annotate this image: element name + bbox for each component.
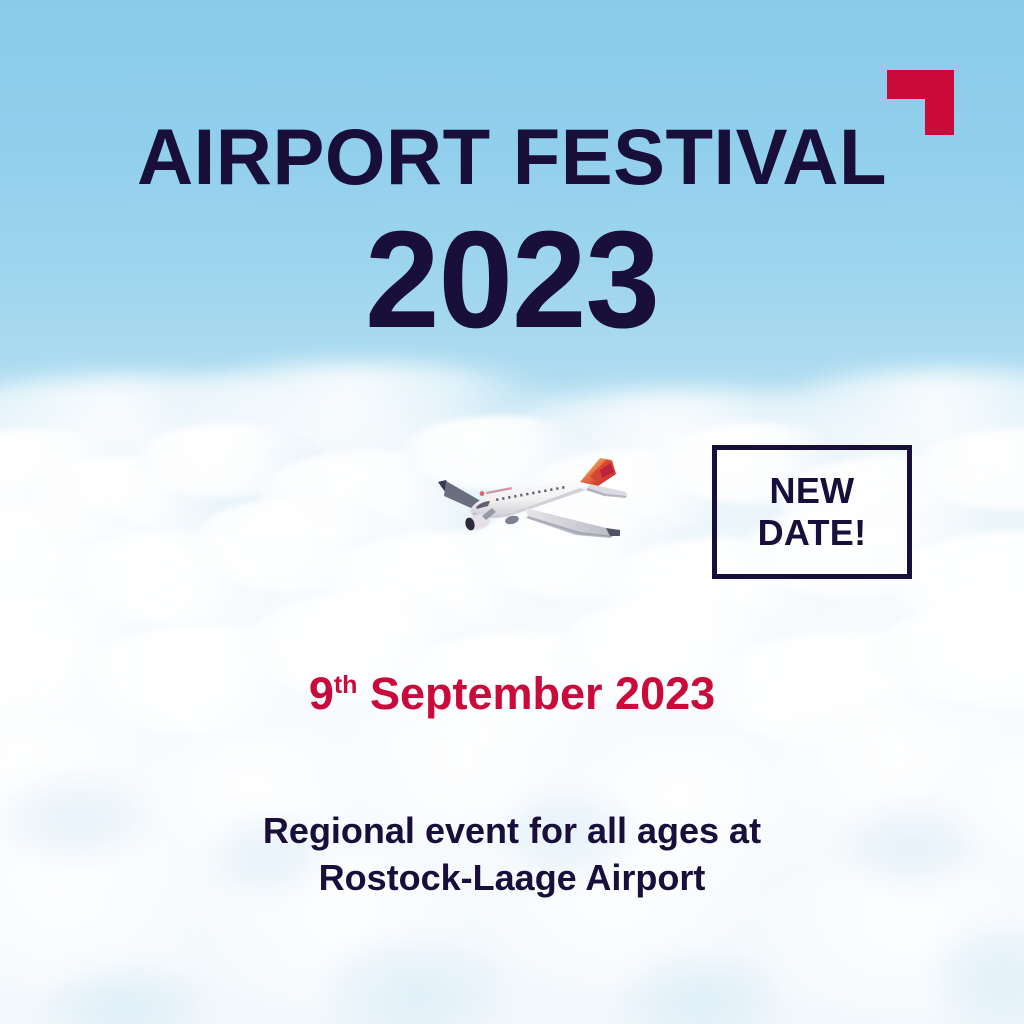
event-date-rest: September 2023 bbox=[357, 668, 715, 719]
new-date-line-1: NEW bbox=[770, 470, 855, 512]
new-date-badge: NEW DATE! bbox=[712, 445, 912, 579]
event-date-ordinal: th bbox=[334, 671, 358, 699]
subtitle-line-1: Regional event for all ages at bbox=[0, 808, 1024, 855]
event-date-day: 9 bbox=[309, 668, 334, 719]
subtitle-line-2: Rostock-Laage Airport bbox=[0, 855, 1024, 902]
flag-vertical-bar bbox=[925, 70, 954, 135]
red-corner-flag-icon bbox=[887, 70, 954, 135]
new-date-line-2: DATE! bbox=[758, 512, 867, 554]
airplane-graphic bbox=[430, 452, 630, 548]
event-subtitle: Regional event for all ages at Rostock-L… bbox=[0, 808, 1024, 902]
airport-festival-poster: AIRPORT FESTIVAL 2023 NEW DATE! 9th Sept… bbox=[0, 0, 1024, 1024]
event-date: 9th September 2023 bbox=[0, 668, 1024, 720]
